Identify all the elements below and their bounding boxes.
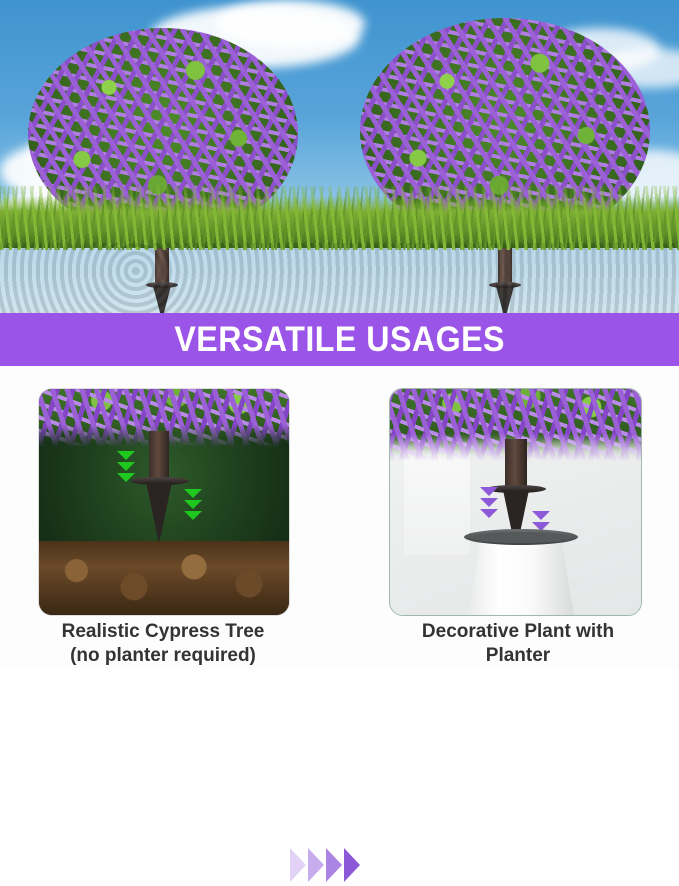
ground-spike xyxy=(146,482,172,544)
chevron-right-icon xyxy=(308,848,324,882)
caption-left-line2: (no planter required) xyxy=(23,644,303,668)
white-planter xyxy=(468,539,574,615)
caption-right-line1: Decorative Plant with xyxy=(378,620,658,644)
comparison-section: Realistic Cypress Tree (no planter requi… xyxy=(0,366,679,670)
chevron-right-icon xyxy=(326,848,342,882)
chevron-arrows xyxy=(290,844,390,886)
panel-decorative-plant-with-planter xyxy=(389,388,642,616)
soil-cross-section xyxy=(0,243,679,313)
soil-bed xyxy=(39,541,289,615)
panel-realistic-cypress-tree xyxy=(38,388,290,616)
tree-trunk xyxy=(149,431,169,483)
tree-trunk xyxy=(505,439,527,491)
banner-title: VERSATILE USAGES xyxy=(174,320,505,360)
grass-blades xyxy=(0,186,679,250)
caption-left-line1: Realistic Cypress Tree xyxy=(23,620,303,644)
chevron-right-icon xyxy=(290,848,306,882)
caption-right-line2: Planter xyxy=(378,644,658,668)
chevron-down-icon xyxy=(184,489,202,522)
chevron-down-icon xyxy=(117,451,135,484)
caption-right: Decorative Plant with Planter xyxy=(378,620,658,668)
product-infographic: VERSATILE USAGES xyxy=(0,0,679,670)
hero-image xyxy=(0,0,679,313)
chevron-down-icon xyxy=(480,487,498,520)
planter-opening xyxy=(470,532,572,543)
caption-left: Realistic Cypress Tree (no planter requi… xyxy=(23,620,303,668)
cloud-shape xyxy=(215,0,365,48)
section-banner: VERSATILE USAGES xyxy=(0,313,679,366)
chevron-right-icon xyxy=(344,848,360,882)
